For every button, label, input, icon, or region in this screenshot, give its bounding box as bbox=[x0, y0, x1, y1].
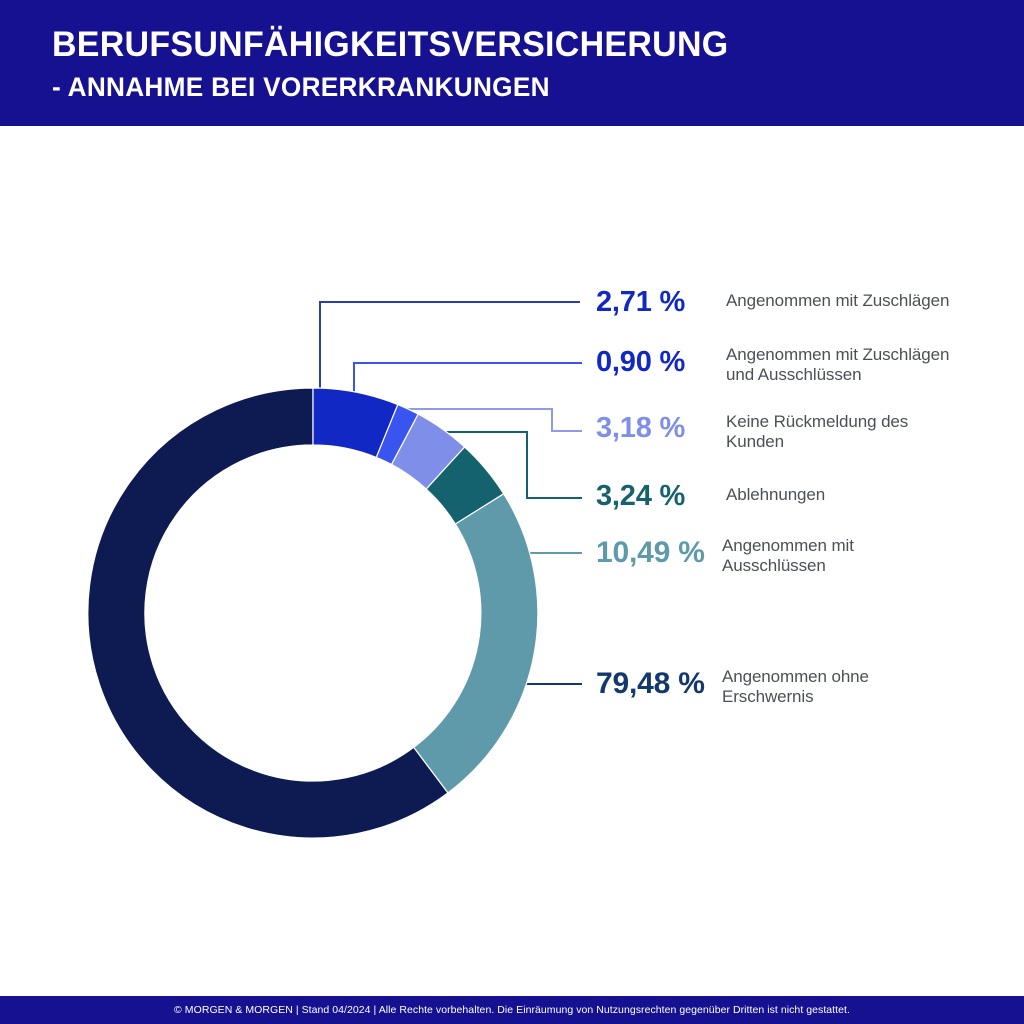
page-subtitle: - ANNAHME BEI VORERKRANKUNGEN bbox=[52, 72, 550, 103]
donut-chart bbox=[0, 126, 1024, 996]
page-title: BERUFSUNFÄHIGKEITSVERSICHERUNG bbox=[52, 26, 728, 64]
leader-line-zuschlaegen-und-ausschluessen bbox=[354, 363, 582, 398]
footer-band: © MORGEN & MORGEN | Stand 04/2024 | Alle… bbox=[0, 996, 1024, 1024]
donut-slice-angenommen-mit-ausschluessen[interactable] bbox=[414, 494, 538, 793]
leader-line-angenommen-mit-zuschlaegen bbox=[320, 302, 580, 394]
header-band: BERUFSUNFÄHIGKEITSVERSICHERUNG - ANNAHME… bbox=[0, 0, 1024, 126]
chart-area bbox=[0, 126, 1024, 996]
donut-ring bbox=[88, 388, 538, 838]
infographic-canvas: BERUFSUNFÄHIGKEITSVERSICHERUNG - ANNAHME… bbox=[0, 0, 1024, 1024]
copyright-text: © MORGEN & MORGEN | Stand 04/2024 | Alle… bbox=[0, 996, 1024, 1024]
